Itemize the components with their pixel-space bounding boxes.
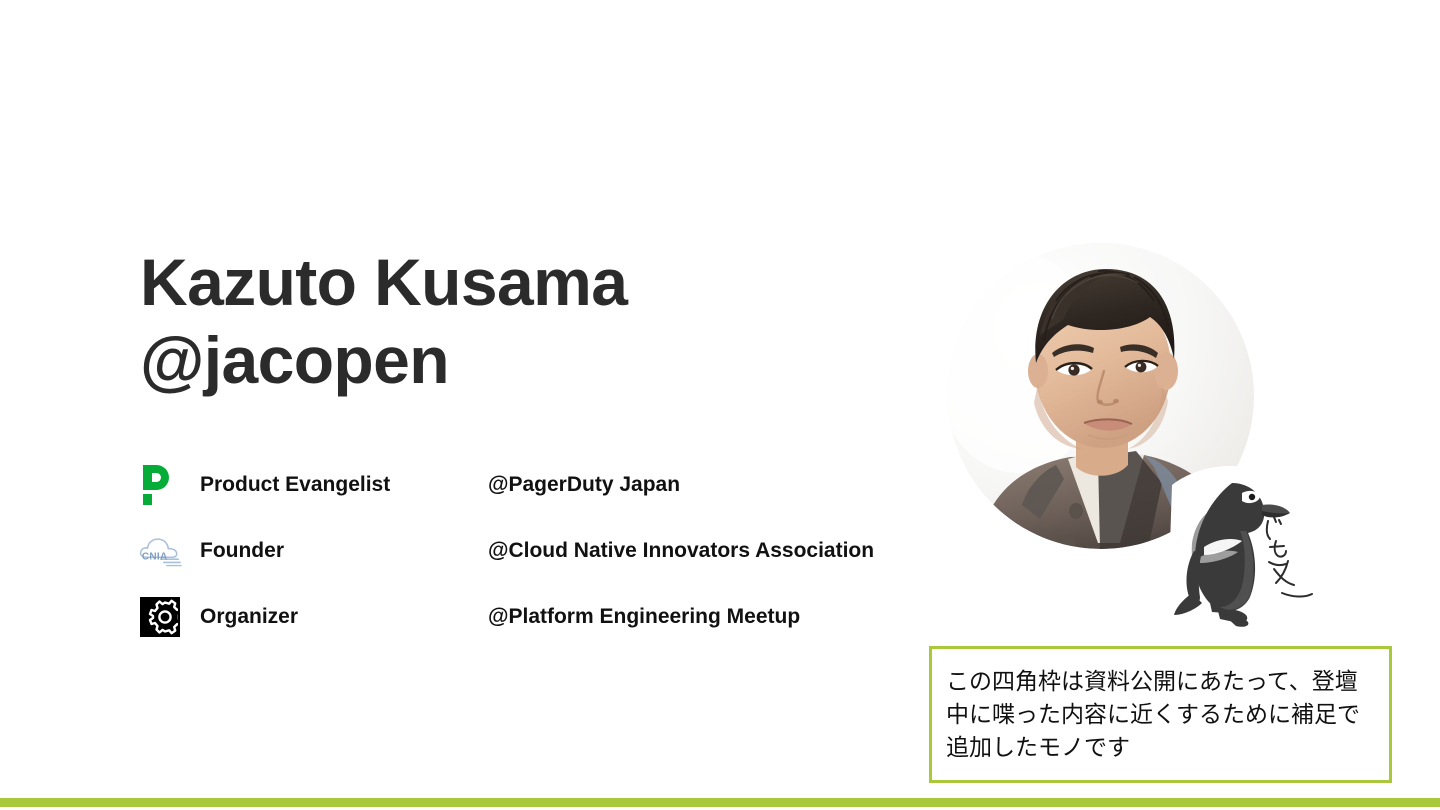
role-organization: @Cloud Native Innovators Association: [488, 539, 874, 563]
role-title: Founder: [200, 539, 488, 563]
speaker-name-line-1: Kazuto Kusama: [140, 243, 900, 321]
role-organization: @Platform Engineering Meetup: [488, 605, 800, 629]
speaker-photo-area: [948, 243, 1254, 549]
role-title: Organizer: [200, 605, 488, 629]
gear-logo-icon: [138, 595, 182, 639]
supplementary-note-box: この四角枠は資料公開にあたって、登壇中に喋った内容に近くするために補足で追加した…: [929, 646, 1392, 783]
role-title: Product Evangelist: [200, 473, 488, 497]
slide-canvas: Kazuto Kusama @jacopen Product Evangelis…: [0, 0, 1440, 810]
cnia-cloud-logo-icon: CNIA: [138, 529, 182, 573]
bottom-accent-bar: [0, 798, 1440, 807]
supplementary-note-text: この四角枠は資料公開にあたって、登壇中に喋った内容に近くするために補足で追加した…: [946, 665, 1379, 764]
role-row: CNIA Founder @Cloud Native Innovators As…: [138, 518, 928, 584]
speaker-name-block: Kazuto Kusama @jacopen: [140, 243, 900, 399]
roles-list: Product Evangelist @PagerDuty Japan CNIA…: [138, 452, 928, 650]
role-organization: @PagerDuty Japan: [488, 473, 680, 497]
svg-text:CNIA: CNIA: [142, 552, 168, 563]
pagerduty-logo-icon: [138, 463, 182, 507]
speaker-handle-line-2: @jacopen: [140, 321, 900, 399]
gentoo-penguin-illustration: [1170, 465, 1310, 630]
role-row: Organizer @Platform Engineering Meetup: [138, 584, 928, 650]
role-row: Product Evangelist @PagerDuty Japan: [138, 452, 928, 518]
